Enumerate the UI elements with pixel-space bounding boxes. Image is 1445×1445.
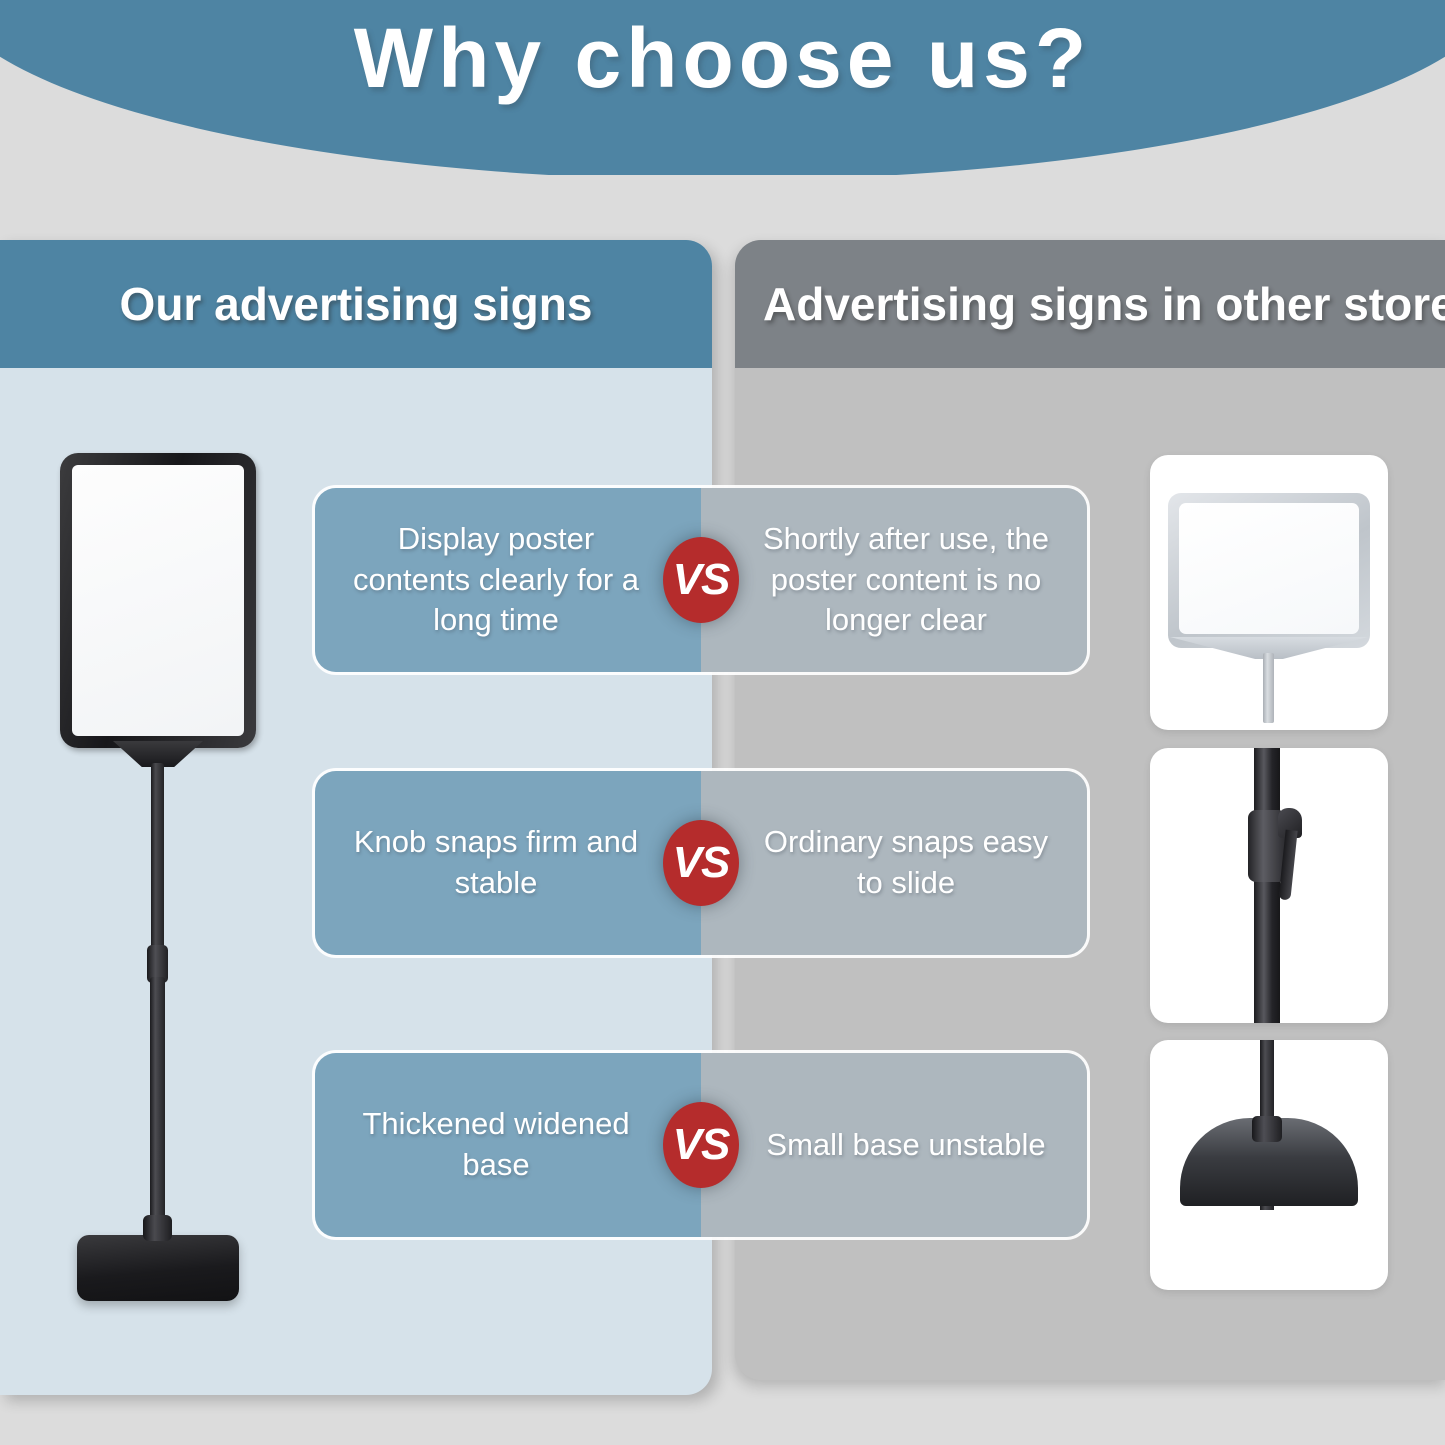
comparison-theirs-text: Ordinary snaps easy to slide xyxy=(701,771,1087,955)
competitor-photo-base xyxy=(1150,1040,1388,1290)
comparison-theirs-text: Small base unstable xyxy=(701,1053,1087,1237)
pole-upper-section xyxy=(151,763,164,953)
competitor-clamp-pole xyxy=(1254,748,1280,1023)
pole-lower-section xyxy=(150,977,165,1237)
poster-frame-outer xyxy=(60,453,256,748)
poster-sheet xyxy=(72,465,244,736)
page-title: Why choose us? xyxy=(0,14,1445,102)
comparison-theirs-text: Shortly after use, the poster content is… xyxy=(701,488,1087,672)
comparison-ours-text: Display poster contents clearly for a lo… xyxy=(315,488,701,672)
column-header-label-right: Advertising signs in other stores xyxy=(735,240,1445,368)
comparison-row: Display poster contents clearly for a lo… xyxy=(312,485,1090,675)
comparison-row: Thickened widened base Small base unstab… xyxy=(312,1050,1090,1240)
comparison-ours-text: Thickened widened base xyxy=(315,1053,701,1237)
column-header-label-left: Our advertising signs xyxy=(0,240,720,368)
competitor-photo-frame xyxy=(1150,455,1388,730)
comparison-row: Knob snaps firm and stable Ordinary snap… xyxy=(312,768,1090,958)
comparison-ours-text: Knob snaps firm and stable xyxy=(315,771,701,955)
column-header-other-stores: Advertising signs in other stores xyxy=(735,240,1445,368)
column-header-our-signs: Our advertising signs xyxy=(0,240,712,368)
header-banner: Why choose us? xyxy=(0,0,1445,175)
competitor-frame-outer xyxy=(1168,493,1370,648)
competitor-base-collar xyxy=(1252,1116,1282,1142)
our-product-photo xyxy=(25,445,290,1295)
competitor-frame-pole xyxy=(1263,653,1274,723)
competitor-photo-clamp xyxy=(1150,748,1388,1023)
competitor-poster-sheet xyxy=(1179,503,1359,634)
base-collar xyxy=(143,1215,172,1241)
wide-base-plate xyxy=(77,1235,239,1301)
